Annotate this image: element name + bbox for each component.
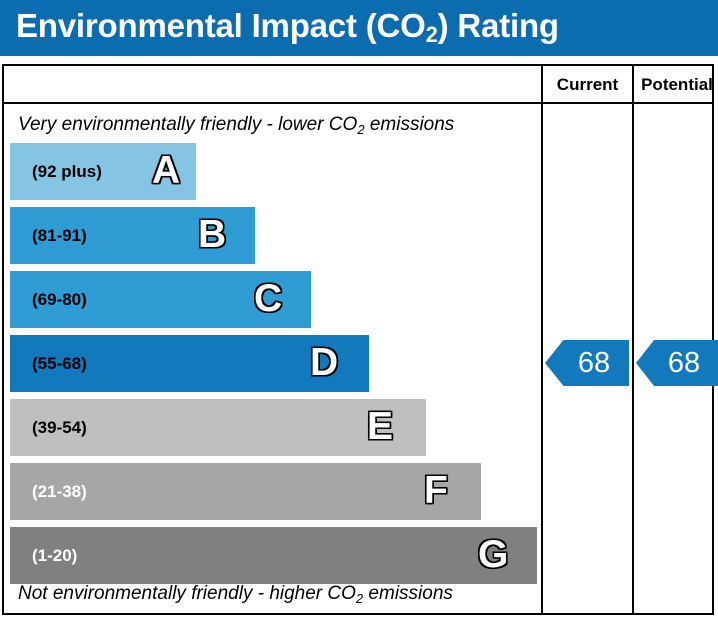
band-range-label: (55-68) xyxy=(32,335,87,392)
title-subscript: 2 xyxy=(426,22,438,47)
band-range-label: (21-38) xyxy=(32,463,87,520)
rating-band-e: (39-54)E xyxy=(10,399,426,456)
current-column-divider xyxy=(541,66,543,613)
band-range-label: (92 plus) xyxy=(32,143,102,200)
current-column-header: Current xyxy=(543,73,632,97)
bottom-caption-suffix: emissions xyxy=(363,583,453,604)
band-range-label: (69-80) xyxy=(32,271,87,328)
rating-band-a: (92 plus)A xyxy=(10,143,196,200)
bottom-caption-prefix: Not environmentally friendly - higher CO xyxy=(18,583,356,604)
band-letter-d: D xyxy=(310,335,338,392)
band-letter-b: B xyxy=(198,207,226,264)
potential-rating-value: 68 xyxy=(636,340,718,386)
title-bar: Environmental Impact (CO2) Rating xyxy=(0,0,718,56)
rating-band-f: (21-38)F xyxy=(10,463,481,520)
rating-band-b: (81-91)B xyxy=(10,207,255,264)
title-prefix: Environmental Impact (CO xyxy=(16,7,426,44)
bottom-caption-subscript: 2 xyxy=(356,591,363,606)
rating-band-list: (92 plus)A(81-91)B(69-80)C(55-68)D(39-54… xyxy=(10,143,540,581)
top-caption-suffix: emissions xyxy=(365,114,455,135)
band-letter-a: A xyxy=(152,143,180,200)
potential-column-divider xyxy=(632,66,634,613)
top-caption-subscript: 2 xyxy=(357,122,364,137)
band-range-label: (81-91) xyxy=(32,207,87,264)
title-suffix: ) Rating xyxy=(438,7,559,44)
rating-band-g: (1-20)G xyxy=(10,527,537,584)
bottom-caption: Not environmentally friendly - higher CO… xyxy=(18,583,453,605)
band-letter-e: E xyxy=(367,399,393,456)
top-caption: Very environmentally friendly - lower CO… xyxy=(18,114,454,136)
current-rating-arrow: 68 xyxy=(545,340,629,386)
potential-rating-arrow: 68 xyxy=(636,340,718,386)
band-letter-f: F xyxy=(424,463,448,520)
rating-band-c: (69-80)C xyxy=(10,271,311,328)
rating-band-d: (55-68)D xyxy=(10,335,369,392)
rating-table: Current Potential Very environmentally f… xyxy=(2,64,714,615)
band-letter-g: G xyxy=(478,527,508,584)
current-rating-value: 68 xyxy=(545,340,629,386)
band-letter-c: C xyxy=(254,271,282,328)
band-range-label: (1-20) xyxy=(32,527,77,584)
band-range-label: (39-54) xyxy=(32,399,87,456)
page-title: Environmental Impact (CO2) Rating xyxy=(16,7,559,45)
epc-environmental-impact-widget: Environmental Impact (CO2) Rating Curren… xyxy=(0,0,718,619)
potential-column-header: Potential xyxy=(634,73,718,97)
top-caption-prefix: Very environmentally friendly - lower CO xyxy=(18,114,357,135)
header-divider xyxy=(4,102,712,104)
